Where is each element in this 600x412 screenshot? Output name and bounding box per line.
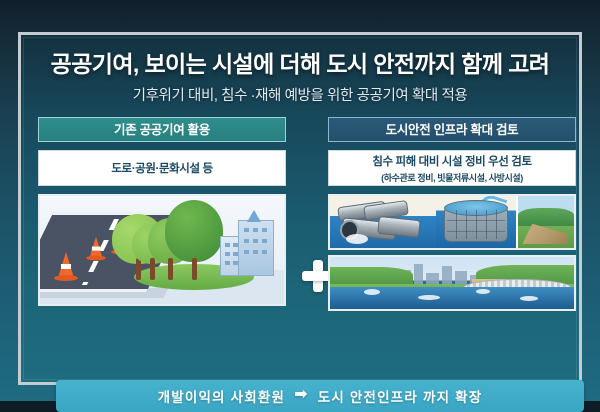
- erosion-dam-panel: [516, 196, 574, 248]
- column-right-info-sub: (하수관로 정비, 빗물저류시설, 사방시설): [381, 171, 523, 184]
- culvert-city-scene: [330, 257, 574, 309]
- summary-banner: 개발이익의 사회환원 ➡ 도시 안전인프라 까지 확장: [56, 380, 584, 412]
- road-park-illustration: [38, 194, 286, 306]
- column-left-info-box: 도로·공원·문화시설 등: [38, 150, 286, 186]
- park-group: [128, 200, 278, 296]
- banner-left-text: 개발이익의 사회환원: [158, 386, 286, 406]
- summary-banner-text: 개발이익의 사회환원 ➡ 도시 안전인프라 까지 확장: [158, 386, 483, 406]
- retention-tank-icon: [444, 206, 508, 242]
- column-right-header: 도시안전 인프라 확대 검토: [328, 117, 576, 142]
- road-park-scene: [40, 196, 284, 304]
- column-left-header: 기존 공공기여 활용: [38, 117, 286, 142]
- building-icon: [238, 220, 274, 276]
- hill-shape: [518, 208, 574, 226]
- column-right-info-main: 침수 피해 대비 시설 정비 우선 검토: [372, 153, 531, 169]
- pipes-tank-dam-scene: [330, 196, 574, 248]
- drain-pipes-panel: [330, 196, 436, 248]
- infographic-stage: 공공기여, 보이는 시설에 더해 도시 안전까지 함께 고려 기후위기 대비, …: [0, 0, 600, 401]
- column-right-info-box: 침수 피해 대비 시설 정비 우선 검토 (하수관로 정비, 빗물저류시설, 사…: [328, 150, 576, 186]
- pipes-tank-dam-illustration: [328, 194, 576, 250]
- page-title: 공공기여, 보이는 시설에 더해 도시 안전까지 함께 고려: [21, 45, 579, 79]
- column-left: 기존 공공기여 활용 도로·공원·문화시설 등: [38, 117, 286, 306]
- building-spire-icon: [247, 210, 261, 222]
- column-right: 도시안전 인프라 확대 검토 침수 피해 대비 시설 정비 우선 검토 (하수관…: [328, 117, 576, 311]
- retention-tank-panel: [436, 196, 516, 248]
- page-subtitle: 기후위기 대비, 침수 ·재해 예방을 위한 공공기여 확대 적용: [21, 84, 579, 105]
- water-splash: [346, 234, 368, 244]
- content-frame: 공공기여, 보이는 시설에 더해 도시 안전까지 함께 고려 기후위기 대비, …: [18, 32, 582, 385]
- banner-right-text: 도시 안전인프라 까지 확장: [318, 386, 483, 406]
- column-left-info-main: 도로·공원·문화시설 등: [111, 160, 212, 176]
- culvert-city-illustration: [328, 255, 576, 311]
- water-foam: [418, 295, 440, 300]
